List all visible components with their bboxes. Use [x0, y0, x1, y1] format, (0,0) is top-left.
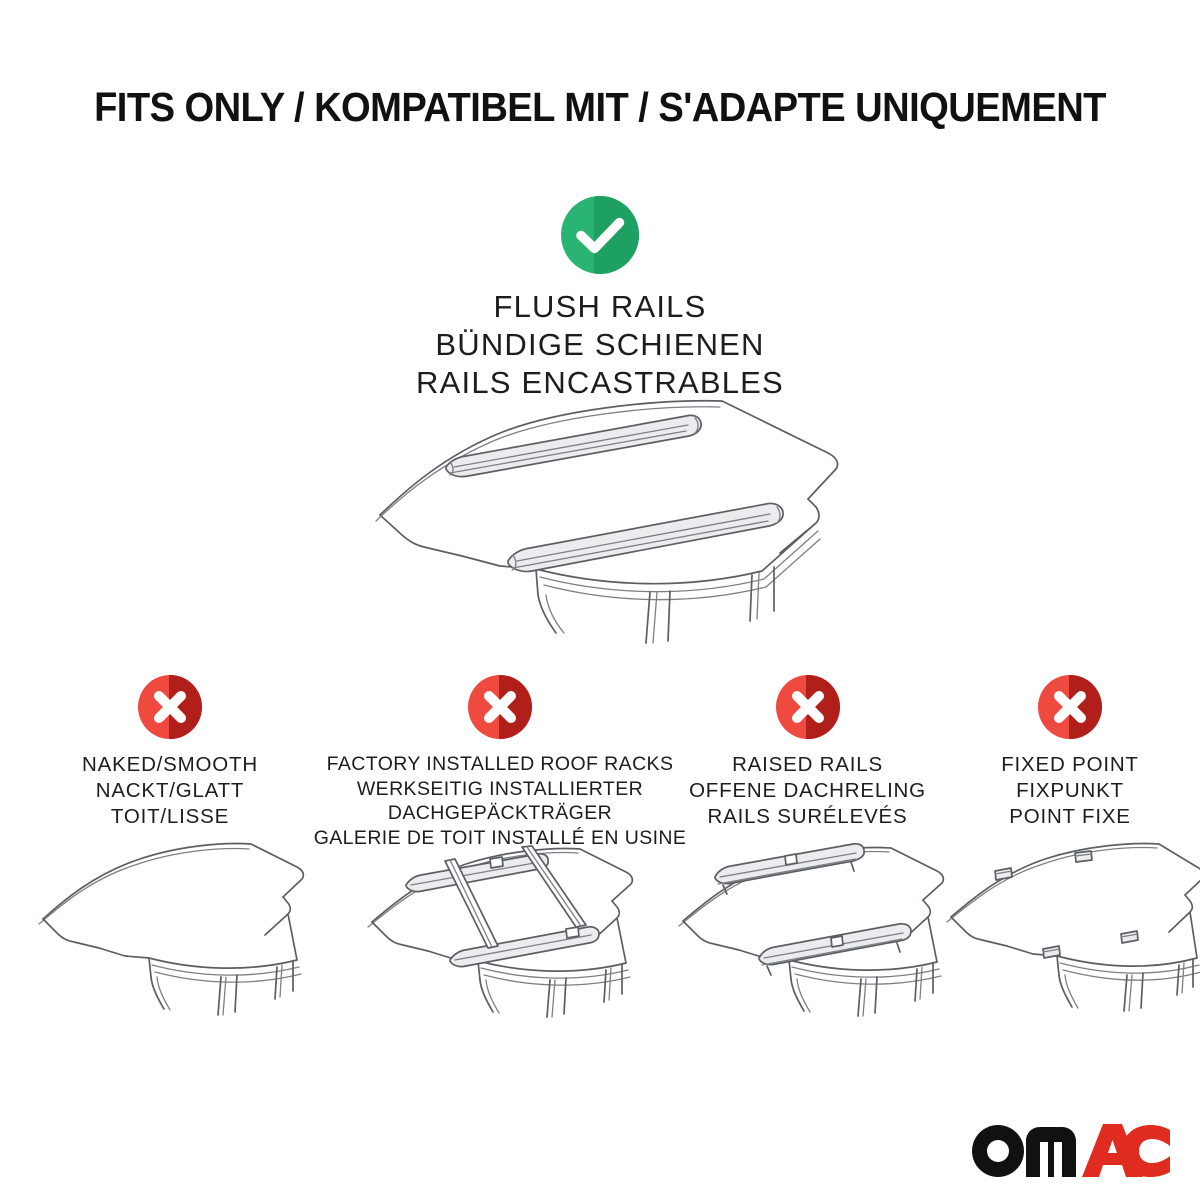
- compatible-label-de: BÜNDIGE SCHIENEN: [0, 326, 1200, 364]
- incompatible-label-de: FIXPUNKT: [940, 778, 1200, 804]
- incompatible-labels: RAISED RAILS OFFENE DACHRELING RAILS SUR…: [665, 752, 950, 829]
- x-mark-glyph: [138, 675, 202, 739]
- incompatible-label-en: NAKED/SMOOTH: [30, 752, 310, 778]
- car-roof-raised-rails-illustration: [663, 827, 953, 1027]
- incompatible-column-fixed-point: FIXED POINT FIXPUNKT POINT FIXE: [940, 675, 1200, 829]
- x-mark-glyph: [1038, 675, 1102, 739]
- red-x-circle-icon: [468, 675, 532, 739]
- incompatible-column-raised-rails: RAISED RAILS OFFENE DACHRELING RAILS SUR…: [665, 675, 950, 829]
- x-mark-glyph: [776, 675, 840, 739]
- incompatible-label-de-1: WERKSEITIG INSTALLIERTER: [300, 777, 700, 802]
- incompatible-label-fr: POINT FIXE: [940, 804, 1200, 830]
- car-roof-fixed-point-illustration: [935, 827, 1200, 1027]
- incompatible-label-en: FACTORY INSTALLED ROOF RACKS: [300, 752, 700, 777]
- incompatible-label-en: RAISED RAILS: [665, 752, 950, 778]
- incompatible-column-factory-roof-racks: FACTORY INSTALLED ROOF RACKS WERKSEITIG …: [300, 675, 700, 850]
- incompatible-labels: NAKED/SMOOTH NACKT/GLATT TOIT/LISSE: [30, 752, 310, 829]
- compatible-section: FLUSH RAILS BÜNDIGE SCHIENEN RAILS ENCAS…: [0, 196, 1200, 402]
- check-mark-glyph: [561, 196, 639, 274]
- logo-letter-o: [972, 1125, 1024, 1177]
- incompatible-label-de: OFFENE DACHRELING: [665, 778, 950, 804]
- incompatible-label-fr: TOIT/LISSE: [30, 804, 310, 830]
- compatible-labels: FLUSH RAILS BÜNDIGE SCHIENEN RAILS ENCAS…: [0, 288, 1200, 402]
- red-x-circle-icon: [1038, 675, 1102, 739]
- incompatible-column-naked-smooth: NAKED/SMOOTH NACKT/GLATT TOIT/LISSE: [30, 675, 310, 829]
- compatible-label-en: FLUSH RAILS: [0, 288, 1200, 326]
- incompatible-section: NAKED/SMOOTH NACKT/GLATT TOIT/LISSE: [0, 675, 1200, 1095]
- omac-logo: [970, 1120, 1170, 1178]
- car-roof-with-flush-rails-illustration: [350, 395, 870, 635]
- incompatible-label-de-2: DACHGEPÄCKTRÄGER: [300, 801, 700, 826]
- green-check-circle-icon: [561, 196, 639, 274]
- page-title: FITS ONLY / KOMPATIBEL MIT / S'ADAPTE UN…: [42, 84, 1158, 131]
- incompatible-label-en: FIXED POINT: [940, 752, 1200, 778]
- incompatible-label-de: NACKT/GLATT: [30, 778, 310, 804]
- infographic-page: FITS ONLY / KOMPATIBEL MIT / S'ADAPTE UN…: [0, 0, 1200, 1200]
- car-roof-factory-installed-roof-racks-illustration: [350, 827, 650, 1027]
- red-x-circle-icon: [138, 675, 202, 739]
- x-mark-glyph: [468, 675, 532, 739]
- incompatible-label-fr: RAILS SURÉLEVÉS: [665, 804, 950, 830]
- car-roof-naked-smooth-illustration: [25, 827, 315, 1027]
- red-x-circle-icon: [776, 675, 840, 739]
- logo-letter-m: [1026, 1127, 1076, 1177]
- incompatible-labels: FIXED POINT FIXPUNKT POINT FIXE: [940, 752, 1200, 829]
